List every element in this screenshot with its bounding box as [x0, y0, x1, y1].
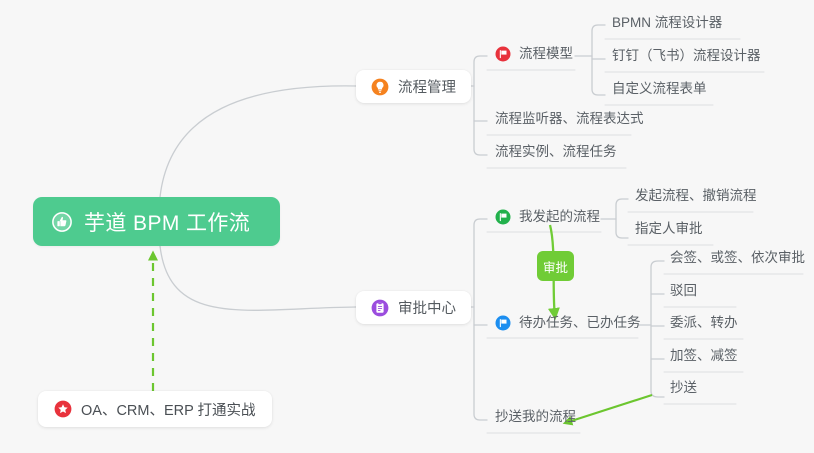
mindmap-canvas: 芋道 BPM 工作流 OA、CRM、ERP 打通实战 流程管理: [0, 0, 814, 453]
leaf-label-delegate-transfer: 委派、转办: [670, 316, 738, 331]
leaf-reject[interactable]: 驳回: [670, 284, 697, 302]
edge-model-spine: [592, 25, 605, 95]
leaf-label-bpmn-designer: BPMN 流程设计器: [612, 16, 722, 31]
arrow-cc-flow: [565, 395, 652, 423]
leaf-process-model[interactable]: 流程模型: [495, 46, 573, 65]
edge-initiated-spine: [616, 199, 628, 238]
flag-circle-red-icon: [495, 46, 511, 62]
leaf-listener-expression[interactable]: 流程监听器、流程表达式: [495, 112, 644, 130]
integration-note-label: OA、CRM、ERP 打通实战: [81, 399, 256, 420]
approval-annotation-badge[interactable]: 审批: [537, 251, 574, 281]
star-circle-icon: [54, 400, 72, 418]
leaf-bpmn-designer[interactable]: BPMN 流程设计器: [612, 16, 722, 34]
leaf-custom-process-form[interactable]: 自定义流程表单: [612, 82, 707, 100]
leaf-todo-done-tasks[interactable]: 待办任务、已办任务: [495, 315, 641, 334]
leaf-label-instance-task: 流程实例、流程任务: [495, 145, 617, 160]
leaf-label-multi-sign: 会签、或签、依次审批: [670, 251, 805, 266]
leaf-label-add-remove-sign: 加签、减签: [670, 349, 738, 364]
leaf-label-process-model: 流程模型: [519, 47, 573, 62]
leaf-label-listener-expression: 流程监听器、流程表达式: [495, 112, 644, 127]
edge-root-to-process: [160, 86, 356, 197]
leaf-label-assignee-approval: 指定人审批: [635, 222, 703, 237]
leaf-my-initiated[interactable]: 我发起的流程: [495, 209, 600, 228]
leaf-label-my-initiated: 我发起的流程: [519, 210, 600, 225]
leaf-label-reject: 驳回: [670, 284, 697, 299]
leaf-add-remove-sign[interactable]: 加签、减签: [670, 349, 738, 367]
leaf-multi-sign[interactable]: 会签、或签、依次审批: [670, 251, 805, 269]
leaf-cc-to-me[interactable]: 抄送我的流程: [495, 410, 576, 428]
edge-approval-spine: [474, 219, 487, 420]
clipboard-circle-purple-icon: [371, 299, 389, 317]
integration-note-node[interactable]: OA、CRM、ERP 打通实战: [38, 391, 272, 427]
flag-circle-green-icon: [495, 209, 511, 225]
leaf-delegate-transfer[interactable]: 委派、转办: [670, 316, 738, 334]
leaf-cc[interactable]: 抄送: [670, 381, 697, 399]
branch-label-approval-center: 审批中心: [398, 297, 456, 318]
lightbulb-circle-icon: [371, 78, 389, 96]
leaf-label-todo-done-tasks: 待办任务、已办任务: [519, 316, 641, 331]
leaf-assignee-approval[interactable]: 指定人审批: [635, 222, 703, 240]
leaf-label-cc: 抄送: [670, 381, 697, 396]
leaf-dingtalk-designer[interactable]: 钉钉（飞书）流程设计器: [612, 49, 761, 67]
branch-node-approval-center[interactable]: 审批中心: [356, 291, 471, 324]
leaf-start-cancel-process[interactable]: 发起流程、撤销流程: [635, 189, 757, 207]
leaf-label-custom-process-form: 自定义流程表单: [612, 82, 707, 97]
edge-root-to-approval: [160, 246, 356, 310]
approval-annotation-label: 审批: [543, 257, 568, 276]
flag-circle-blue-icon: [495, 315, 511, 331]
root-label: 芋道 BPM 工作流: [84, 207, 250, 237]
thumbs-up-circle-icon: [51, 211, 73, 233]
root-node[interactable]: 芋道 BPM 工作流: [33, 197, 280, 246]
branch-node-process-management[interactable]: 流程管理: [356, 70, 471, 103]
leaf-label-dingtalk-designer: 钉钉（飞书）流程设计器: [612, 49, 761, 64]
branch-label-process-management: 流程管理: [398, 76, 456, 97]
leaf-instance-task[interactable]: 流程实例、流程任务: [495, 145, 617, 163]
leaf-label-start-cancel-process: 发起流程、撤销流程: [635, 189, 757, 204]
leaf-label-cc-to-me: 抄送我的流程: [495, 410, 576, 425]
edge-process-spine: [474, 56, 487, 155]
edge-todo-spine: [651, 261, 664, 397]
